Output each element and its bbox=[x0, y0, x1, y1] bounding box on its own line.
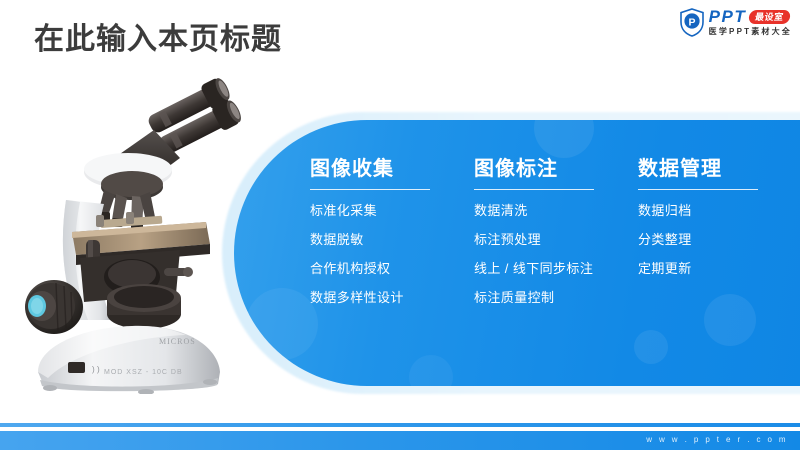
list-item: 合作机构授权 bbox=[310, 261, 474, 276]
brand-tagline: 医学PPT素材大全 bbox=[709, 28, 792, 36]
brand-text-block: PPT 最设室 医学PPT素材大全 bbox=[709, 8, 792, 36]
slide-canvas: 在此输入本页标题 P PPT 最设室 医学PPT素材大全 图像收集 bbox=[0, 0, 800, 450]
microscope-image: ) ) MOD XSZ - 10C DB MICROS bbox=[4, 72, 286, 394]
list-item: 分类整理 bbox=[638, 232, 800, 247]
list-item: 标注预处理 bbox=[474, 232, 638, 247]
svg-text:MICROS: MICROS bbox=[159, 337, 196, 346]
svg-text:P: P bbox=[688, 16, 695, 28]
list-item: 标准化采集 bbox=[310, 203, 474, 218]
list-item: 定期更新 bbox=[638, 261, 800, 276]
list-item: 线上 / 线下同步标注 bbox=[474, 261, 638, 276]
svg-text:MOD XSZ - 10C DB: MOD XSZ - 10C DB bbox=[104, 369, 183, 376]
list-item: 数据归档 bbox=[638, 203, 800, 218]
brand-badge: 最设室 bbox=[748, 10, 790, 24]
svg-text:): ) bbox=[97, 365, 100, 374]
brand-logo[interactable]: P PPT 最设室 医学PPT素材大全 bbox=[679, 6, 792, 38]
column-image-annotation: 图像标注 数据清洗 标注预处理 线上 / 线下同步标注 标注质量控制 bbox=[474, 156, 638, 319]
column-title: 图像标注 bbox=[474, 156, 638, 182]
shield-icon: P bbox=[679, 8, 705, 37]
list-item: 数据多样性设计 bbox=[310, 290, 474, 305]
footer-website-url: w w w . p p t e r . c o m bbox=[646, 435, 788, 445]
brand-name: PPT bbox=[709, 8, 747, 25]
page-title: 在此输入本页标题 bbox=[34, 20, 282, 60]
column-title: 数据管理 bbox=[638, 156, 800, 182]
column-data-management: 数据管理 数据归档 分类整理 定期更新 bbox=[638, 156, 800, 319]
footer-accent-line bbox=[0, 423, 800, 427]
column-image-collection: 图像收集 标准化采集 数据脱敏 合作机构授权 数据多样性设计 bbox=[310, 156, 474, 319]
column-title: 图像收集 bbox=[310, 156, 474, 182]
column-divider bbox=[310, 189, 430, 190]
decorative-circle bbox=[534, 120, 594, 158]
content-panel: 图像收集 标准化采集 数据脱敏 合作机构授权 数据多样性设计 图像标注 数据清洗… bbox=[234, 120, 800, 386]
column-group: 图像收集 标准化采集 数据脱敏 合作机构授权 数据多样性设计 图像标注 数据清洗… bbox=[310, 156, 800, 319]
decorative-circle bbox=[634, 330, 668, 364]
svg-text:): ) bbox=[92, 365, 95, 374]
column-divider bbox=[474, 189, 594, 190]
column-divider bbox=[638, 189, 758, 190]
list-item: 数据脱敏 bbox=[310, 232, 474, 247]
decorative-circle bbox=[409, 355, 453, 386]
list-item: 数据清洗 bbox=[474, 203, 638, 218]
list-item: 标注质量控制 bbox=[474, 290, 638, 305]
